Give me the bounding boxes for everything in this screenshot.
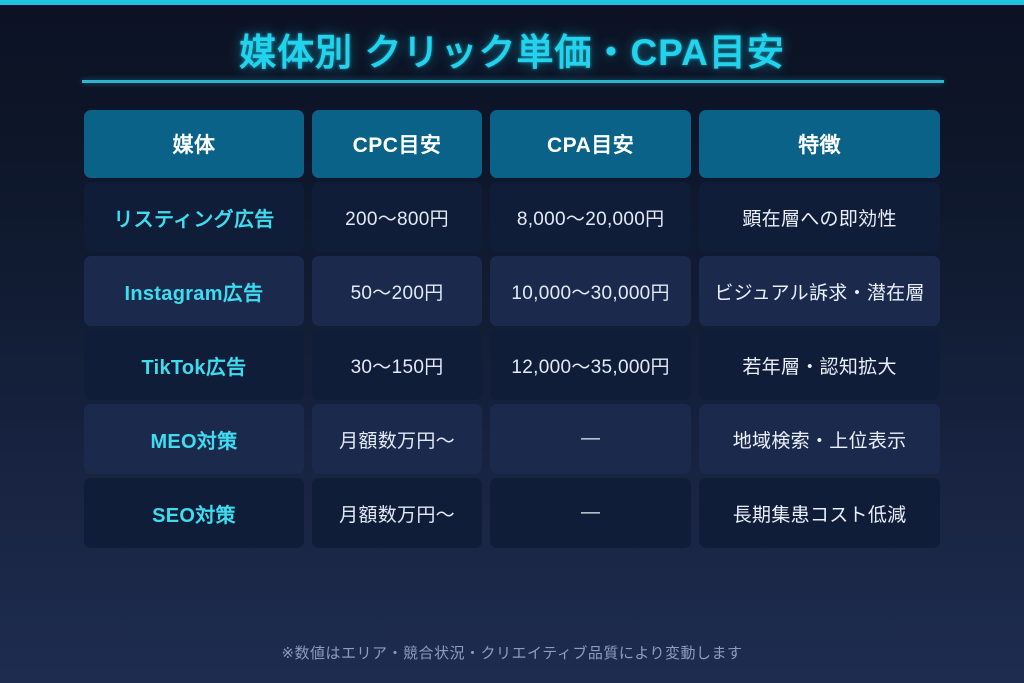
cell-media: リスティング広告	[84, 182, 304, 252]
table-header-row: 媒体 CPC目安 CPA目安 特徴	[84, 110, 940, 178]
cell-cpc: 30〜150円	[312, 330, 482, 400]
footnote-text: ※数値はエリア・競合状況・クリエイティブ品質により変動します	[0, 642, 1024, 663]
cell-feature: ビジュアル訴求・潜在層	[699, 256, 940, 326]
cell-cpa: 12,000〜35,000円	[490, 330, 691, 400]
cell-feature: 若年層・認知拡大	[699, 330, 940, 400]
cell-cpa: —	[490, 404, 691, 474]
cell-cpc: 200〜800円	[312, 182, 482, 252]
table-row: TikTok広告 30〜150円 12,000〜35,000円 若年層・認知拡大	[84, 330, 940, 400]
table-row: Instagram広告 50〜200円 10,000〜30,000円 ビジュアル…	[84, 256, 940, 326]
cell-media: MEO対策	[84, 404, 304, 474]
cell-media: Instagram広告	[84, 256, 304, 326]
table-row: MEO対策 月額数万円〜 — 地域検索・上位表示	[84, 404, 940, 474]
cell-cpc: 月額数万円〜	[312, 404, 482, 474]
cell-media: TikTok広告	[84, 330, 304, 400]
table-row: SEO対策 月額数万円〜 — 長期集患コスト低減	[84, 478, 940, 548]
title-underline-rule	[82, 80, 944, 83]
page-title: 媒体別 クリック単価・CPA目安	[0, 22, 1024, 76]
top-accent-bar	[0, 0, 1024, 5]
column-header-feature: 特徴	[699, 110, 940, 178]
cell-cpc: 月額数万円〜	[312, 478, 482, 548]
cell-cpc: 50〜200円	[312, 256, 482, 326]
cell-feature: 長期集患コスト低減	[699, 478, 940, 548]
cell-feature: 顕在層への即効性	[699, 182, 940, 252]
cell-cpa: 8,000〜20,000円	[490, 182, 691, 252]
cell-cpa: 10,000〜30,000円	[490, 256, 691, 326]
column-header-media: 媒体	[84, 110, 304, 178]
column-header-cpa: CPA目安	[490, 110, 691, 178]
cell-media: SEO対策	[84, 478, 304, 548]
slide-canvas: 媒体別 クリック単価・CPA目安 媒体 CPC目安 CPA目安 特徴 リスティン…	[0, 0, 1024, 683]
cell-cpa: —	[490, 478, 691, 548]
media-cost-table: 媒体 CPC目安 CPA目安 特徴 リスティング広告 200〜800円 8,00…	[84, 110, 940, 552]
column-header-cpc: CPC目安	[312, 110, 482, 178]
table-row: リスティング広告 200〜800円 8,000〜20,000円 顕在層への即効性	[84, 182, 940, 252]
cell-feature: 地域検索・上位表示	[699, 404, 940, 474]
